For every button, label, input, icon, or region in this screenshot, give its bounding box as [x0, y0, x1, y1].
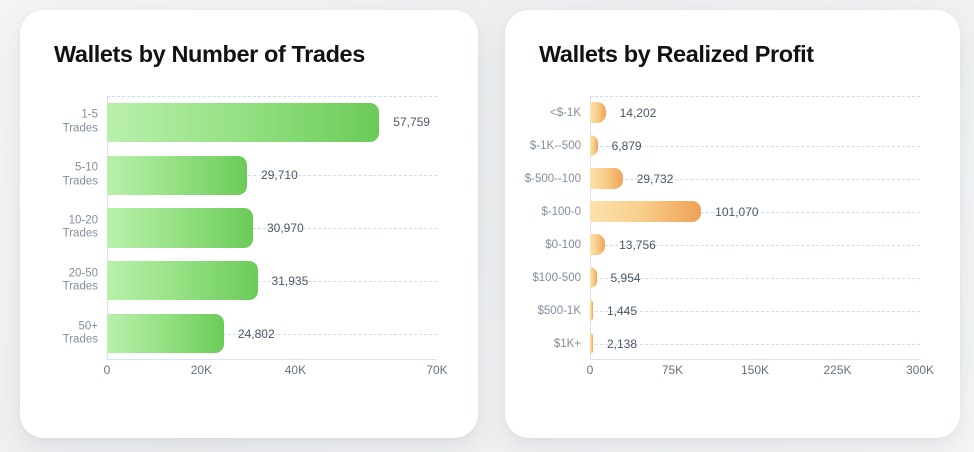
bar-value-label: 1,445: [607, 304, 637, 318]
gridline: [590, 344, 920, 345]
category-label-line: Trades: [63, 122, 98, 136]
bar-value-label: 13,756: [619, 238, 656, 252]
bar[interactable]: [107, 156, 247, 195]
x-axis-ticks-left: 020K40K70K: [107, 363, 437, 381]
category-label-line: $-1K--500: [530, 139, 581, 153]
bar[interactable]: [590, 135, 598, 155]
x-tick-label: 20K: [191, 363, 212, 377]
category-label-line: Trades: [63, 334, 98, 348]
category-label-right-4: $0-100: [545, 238, 581, 252]
x-axis-ticks-right: 075K150K225K300K: [590, 363, 920, 381]
dashboard-page: Wallets by Number of Trades 1-5Trades57,…: [0, 0, 974, 452]
bar[interactable]: [590, 102, 606, 122]
chart-wallets-by-realized-profit: <$-1K14,202$-1K--5006,879$-500--10029,73…: [505, 10, 960, 438]
bar[interactable]: [107, 261, 258, 300]
bar[interactable]: [107, 208, 253, 247]
x-tick-label: 225K: [823, 363, 851, 377]
x-tick-label: 0: [587, 363, 594, 377]
category-label-left-4: 50+Trades: [63, 320, 98, 347]
category-label-right-2: $-500--100: [525, 172, 581, 186]
category-label-line: 20-50: [63, 267, 98, 281]
category-label-line: 10-20: [63, 214, 98, 228]
bar-value-label: 101,070: [715, 205, 758, 219]
gridline: [590, 311, 920, 312]
category-label-right-5: $100-500: [532, 271, 581, 285]
category-label-right-0: <$-1K: [550, 106, 581, 120]
category-label-right-1: $-1K--500: [530, 139, 581, 153]
bar-rows-left: 1-5Trades57,7595-10Trades29,71010-20Trad…: [107, 96, 437, 360]
x-tick-label: 40K: [285, 363, 306, 377]
bar[interactable]: [590, 201, 701, 221]
chart-card-wallets-by-realized-profit[interactable]: Wallets by Realized Profit <$-1K14,202$-…: [505, 10, 960, 438]
bar-row[interactable]: 10-20Trades30,970: [107, 202, 437, 255]
category-label-line: $500-1K: [538, 304, 581, 318]
bar[interactable]: [107, 103, 379, 142]
bar-value-label: 24,802: [238, 327, 275, 341]
plot-area-right: <$-1K14,202$-1K--5006,879$-500--10029,73…: [590, 96, 920, 378]
bar-value-label: 6,879: [612, 139, 642, 153]
category-label-line: <$-1K: [550, 106, 581, 120]
category-label-left-1: 5-10Trades: [63, 162, 98, 189]
bar-value-label: 29,732: [637, 172, 674, 186]
category-label-line: 5-10: [63, 162, 98, 176]
bar-row[interactable]: $-1K--5006,879: [590, 129, 920, 162]
card-slot-right: Wallets by Realized Profit <$-1K14,202$-…: [487, 0, 974, 452]
category-label-line: $-100-0: [541, 205, 581, 219]
bar-row[interactable]: $100-5005,954: [590, 261, 920, 294]
bar-row[interactable]: $1K+2,138: [590, 327, 920, 360]
bar[interactable]: [590, 333, 593, 353]
bar-rows-right: <$-1K14,202$-1K--5006,879$-500--10029,73…: [590, 96, 920, 360]
bar-row[interactable]: 20-50Trades31,935: [107, 254, 437, 307]
bar-row[interactable]: 5-10Trades29,710: [107, 149, 437, 202]
x-tick-label: 70K: [426, 363, 447, 377]
chart-wallets-by-number-of-trades: 1-5Trades57,7595-10Trades29,71010-20Trad…: [20, 10, 478, 438]
card-slot-left: Wallets by Number of Trades 1-5Trades57,…: [0, 0, 487, 452]
bar[interactable]: [590, 234, 605, 254]
bar[interactable]: [590, 300, 593, 320]
category-label-line: $-500--100: [525, 172, 581, 186]
category-label-right-7: $1K+: [554, 337, 581, 351]
bar-value-label: 31,935: [272, 274, 309, 288]
x-tick-label: 150K: [741, 363, 769, 377]
x-tick-label: 0: [104, 363, 111, 377]
bar-row[interactable]: 50+Trades24,802: [107, 307, 437, 360]
category-label-line: $100-500: [532, 271, 581, 285]
bar-row[interactable]: 1-5Trades57,759: [107, 96, 437, 149]
category-label-line: Trades: [63, 175, 98, 189]
bar-value-label: 5,954: [611, 271, 641, 285]
category-label-right-6: $500-1K: [538, 304, 581, 318]
category-label-left-3: 20-50Trades: [63, 267, 98, 294]
category-label-line: 1-5: [63, 109, 98, 123]
category-label-line: Trades: [63, 228, 98, 242]
chart-card-wallets-by-number-of-trades[interactable]: Wallets by Number of Trades 1-5Trades57,…: [20, 10, 478, 438]
category-label-left-0: 1-5Trades: [63, 109, 98, 136]
bar-value-label: 29,710: [261, 168, 298, 182]
bar-value-label: 57,759: [393, 115, 430, 129]
x-tick-label: 300K: [906, 363, 934, 377]
bar-row[interactable]: <$-1K14,202: [590, 96, 920, 129]
category-label-line: $1K+: [554, 337, 581, 351]
category-label-line: $0-100: [545, 238, 581, 252]
bar[interactable]: [590, 267, 597, 287]
category-label-right-3: $-100-0: [541, 205, 581, 219]
plot-area-left: 1-5Trades57,7595-10Trades29,71010-20Trad…: [107, 96, 437, 378]
bar[interactable]: [590, 168, 623, 188]
category-label-line: 50+: [63, 320, 98, 334]
bar[interactable]: [107, 314, 224, 353]
gridline: [590, 96, 920, 97]
bar-row[interactable]: $0-10013,756: [590, 228, 920, 261]
bar-value-label: 14,202: [620, 106, 657, 120]
category-label-left-2: 10-20Trades: [63, 214, 98, 241]
bar-value-label: 2,138: [607, 337, 637, 351]
bar-row[interactable]: $-500--10029,732: [590, 162, 920, 195]
bar-row[interactable]: $500-1K1,445: [590, 294, 920, 327]
category-label-line: Trades: [63, 281, 98, 295]
bar-value-label: 30,970: [267, 221, 304, 235]
bar-row[interactable]: $-100-0101,070: [590, 195, 920, 228]
gridline: [107, 96, 437, 97]
x-tick-label: 75K: [662, 363, 683, 377]
